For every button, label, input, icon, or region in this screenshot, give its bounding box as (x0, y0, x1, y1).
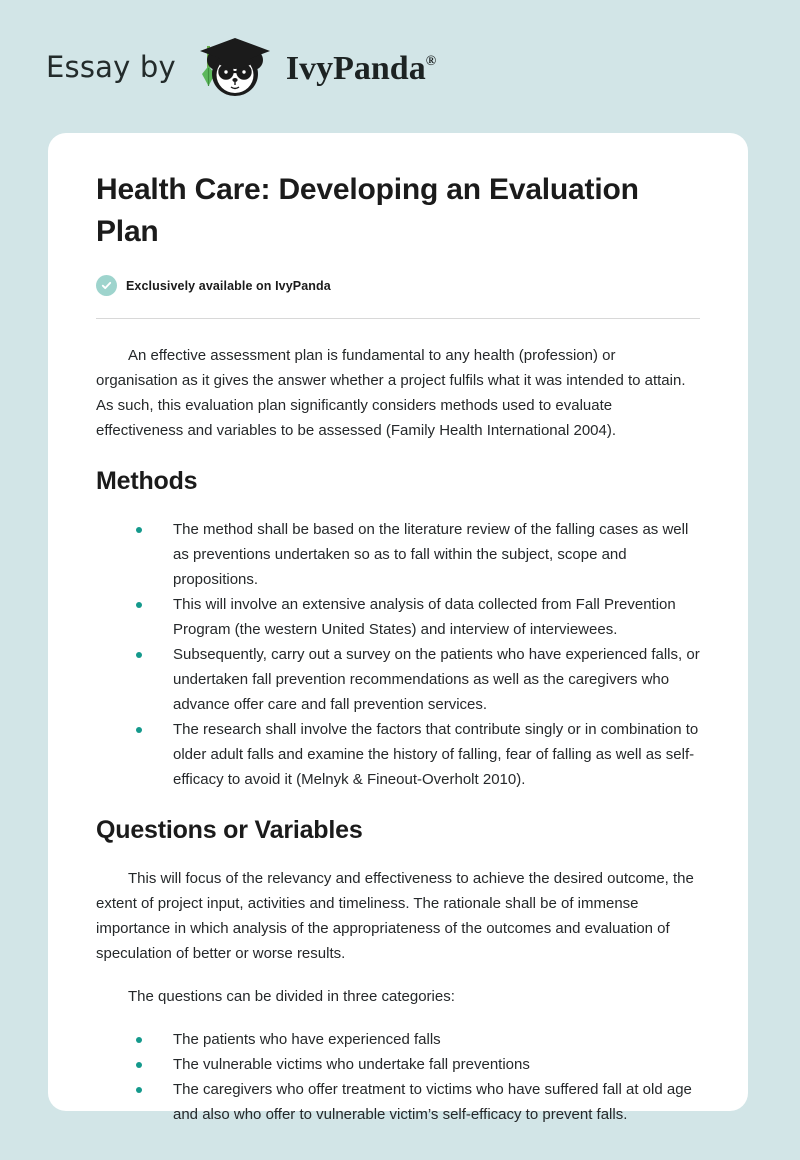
list-item: The research shall involve the factors t… (96, 717, 700, 792)
intro-paragraph: An effective assessment plan is fundamen… (96, 343, 700, 443)
essay-page: Essay by (0, 0, 800, 1160)
wordmark-text: IvyPanda (286, 50, 426, 87)
ivypanda-wordmark: IvyPanda® (286, 52, 436, 86)
ivypanda-panda-graduate-logo-icon (190, 34, 282, 100)
page-title: Health Care: Developing an Evaluation Pl… (96, 169, 700, 253)
list-item: The caregivers who offer treatment to vi… (96, 1077, 700, 1127)
questions-lead-in: The questions can be divided in three ca… (96, 984, 700, 1009)
methods-bullet-list: The method shall be based on the literat… (96, 517, 700, 792)
essay-by-label: Essay by (46, 53, 176, 82)
section-heading-questions-or-variables: Questions or Variables (96, 814, 700, 846)
header-divider (96, 318, 700, 319)
questions-paragraph: This will focus of the relevancy and eff… (96, 866, 700, 966)
check-circle-icon (96, 275, 117, 296)
list-item: Subsequently, carry out a survey on the … (96, 642, 700, 717)
list-item: The method shall be based on the literat… (96, 517, 700, 592)
brand-header: Essay by (46, 34, 436, 100)
section-heading-methods: Methods (96, 465, 700, 497)
status-badge-label: Exclusively available on IvyPanda (126, 279, 331, 293)
questions-bullet-list: The patients who have experienced falls … (96, 1027, 700, 1127)
essay-card: Health Care: Developing an Evaluation Pl… (48, 133, 748, 1111)
list-item: This will involve an extensive analysis … (96, 592, 700, 642)
registered-trademark-icon: ® (426, 54, 436, 69)
status-badge: Exclusively available on IvyPanda (96, 275, 700, 296)
list-item: The vulnerable victims who undertake fal… (96, 1052, 700, 1077)
list-item: The patients who have experienced falls (96, 1027, 700, 1052)
